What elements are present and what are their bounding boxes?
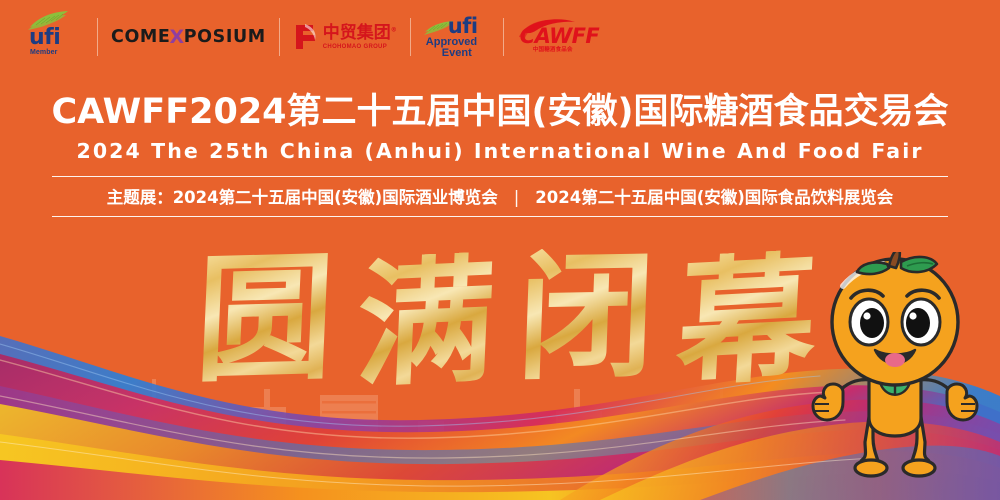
exhibition-2-label: 2024第二十五届中国(安徽)国际食品饮料展览会 <box>535 188 893 207</box>
calligraphy-headline: 圆 满 闭 幕 <box>196 244 816 394</box>
exhibition-1-label: 2024第二十五届中国(安徽)国际酒业博览会 <box>173 188 498 207</box>
zhongmao-group-logo: 中贸集团® CHOHOMAO GROUP <box>293 22 397 52</box>
calligraphy-glyph: 满 <box>353 251 497 395</box>
theme-exhibitions-bar: 主题展：2024第二十五届中国(安徽)国际酒业博览会|2024第二十五届中国(安… <box>52 176 948 217</box>
zhongmao-chinese-label: 中贸集团 <box>323 23 391 43</box>
registered-mark-icon: ® <box>391 26 397 33</box>
zhongmao-mark-icon <box>293 22 319 52</box>
comexposium-part1: COME <box>111 27 171 47</box>
theme-exhibitions-text: 主题展：2024第二十五届中国(安徽)国际酒业博览会|2024第二十五届中国(安… <box>52 184 948 208</box>
page-subtitle: 2024 The 25th China (Anhui) Internationa… <box>0 139 1000 163</box>
cawff-label: CAWFF <box>520 26 599 47</box>
ufi-approved-line2: Event <box>442 48 472 60</box>
zhongmao-english-label: CHOHOMAO GROUP <box>323 44 397 50</box>
event-banner: ufi Member COME X POSIUM 中贸集团® <box>0 0 1000 500</box>
logo-divider <box>503 18 504 56</box>
logo-divider <box>279 18 280 56</box>
orange-mascot <box>795 252 995 484</box>
comexposium-part2: POSIUM <box>184 27 266 47</box>
cawff-logo: CAWFF 中国糖酒食品会 <box>517 17 587 57</box>
theme-label: 主题展： <box>107 188 173 207</box>
cawff-sublabel: 中国糖酒食品会 <box>533 45 573 53</box>
ufi-member-label: ufi <box>29 27 60 49</box>
partner-logo-strip: ufi Member COME X POSIUM 中贸集团® <box>0 0 1000 74</box>
page-title: CAWFF2024第二十五届中国(安徽)国际糖酒食品交易会 <box>0 92 1000 132</box>
comexposium-x: X <box>170 26 185 48</box>
logo-divider <box>97 18 98 56</box>
separator-glyph: | <box>498 188 536 207</box>
calligraphy-glyph: 闭 <box>515 247 658 387</box>
ufi-member-sublabel: Member <box>30 49 57 56</box>
title-block: CAWFF2024第二十五届中国(安徽)国际糖酒食品交易会 2024 The 2… <box>0 92 1000 163</box>
ufi-member-logo: ufi Member <box>22 9 84 65</box>
logo-divider <box>410 18 411 56</box>
calligraphy-glyph: 圆 <box>193 248 337 390</box>
ufi-approved-event-logo: ufi Approved Event <box>424 12 490 62</box>
comexposium-logo: COME X POSIUM <box>111 26 266 48</box>
ufi-approved-label: ufi <box>448 16 478 37</box>
